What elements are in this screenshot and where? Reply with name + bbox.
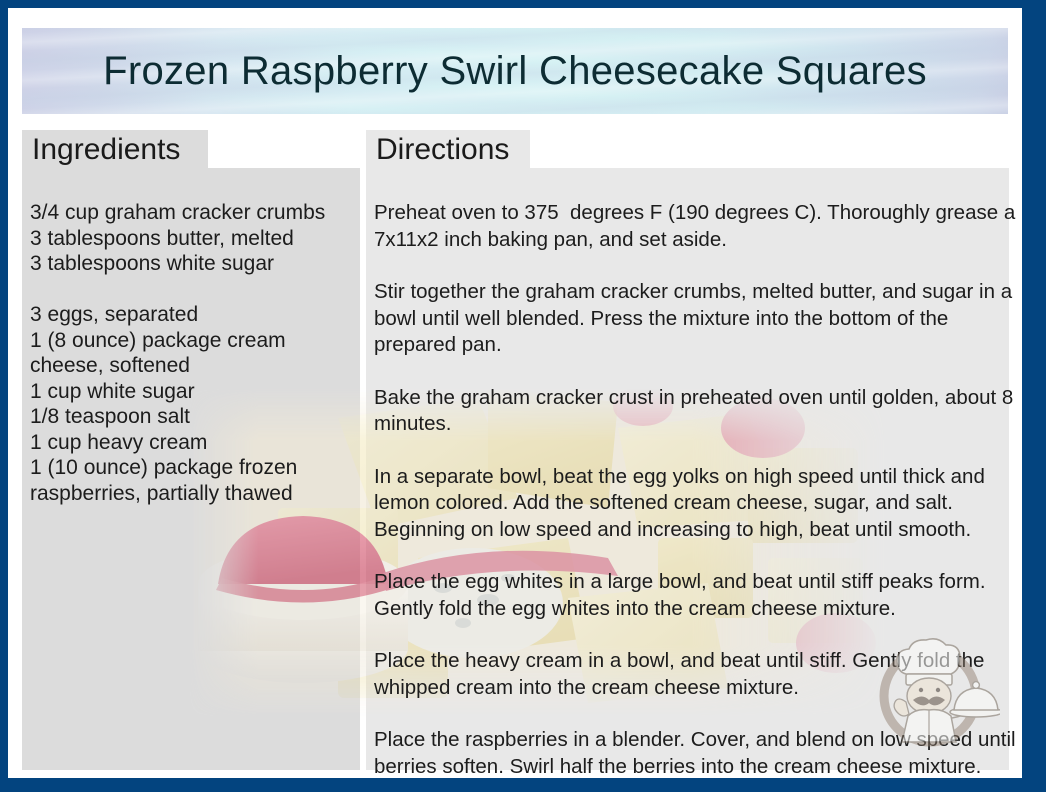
- ingredient-item: cheese, softened: [30, 353, 352, 379]
- ingredient-item: 3 tablespoons butter, melted: [30, 226, 352, 252]
- recipe-card: Frozen Raspberry Swirl Cheesecake Square…: [0, 0, 1046, 792]
- direction-step: In a separate bowl, beat the egg yolks o…: [374, 464, 1022, 544]
- direction-step: Bake the graham cracker crust in preheat…: [374, 385, 1022, 438]
- direction-step: Place the raspberries in a blender. Cove…: [374, 727, 1022, 778]
- ingredient-item: 3 eggs, separated: [30, 302, 352, 328]
- directions-heading: Directions: [376, 135, 509, 165]
- ingredient-item: 1/8 teaspoon salt: [30, 404, 352, 430]
- ingredient-item: 3 tablespoons white sugar: [30, 251, 352, 277]
- ingredients-heading: Ingredients: [32, 135, 180, 165]
- ingredient-spacer: [30, 277, 352, 303]
- ingredient-item: 1 (8 ounce) package cream: [30, 328, 352, 354]
- ingredients-list: 3/4 cup graham cracker crumbs 3 tablespo…: [30, 200, 352, 506]
- directions-section-tab: Directions: [366, 130, 530, 170]
- ingredients-section-tab: Ingredients: [22, 130, 208, 170]
- ingredient-item: 1 (10 ounce) package frozen: [30, 455, 352, 481]
- ingredient-item: 1 cup heavy cream: [30, 430, 352, 456]
- title-banner: Frozen Raspberry Swirl Cheesecake Square…: [22, 28, 1008, 114]
- page-title: Frozen Raspberry Swirl Cheesecake Square…: [103, 49, 927, 94]
- ingredient-item: raspberries, partially thawed: [30, 481, 352, 507]
- card-inner-surface: Frozen Raspberry Swirl Cheesecake Square…: [8, 8, 1022, 778]
- ingredient-item: 1 cup white sugar: [30, 379, 352, 405]
- ingredient-item: 3/4 cup graham cracker crumbs: [30, 200, 352, 226]
- direction-step: Place the egg whites in a large bowl, an…: [374, 569, 1022, 622]
- directions-list: Preheat oven to 375 degrees F (190 degre…: [374, 200, 1022, 778]
- direction-step: Stir together the graham cracker crumbs,…: [374, 279, 1022, 359]
- direction-step: Place the heavy cream in a bowl, and bea…: [374, 648, 1022, 701]
- direction-step: Preheat oven to 375 degrees F (190 degre…: [374, 200, 1022, 253]
